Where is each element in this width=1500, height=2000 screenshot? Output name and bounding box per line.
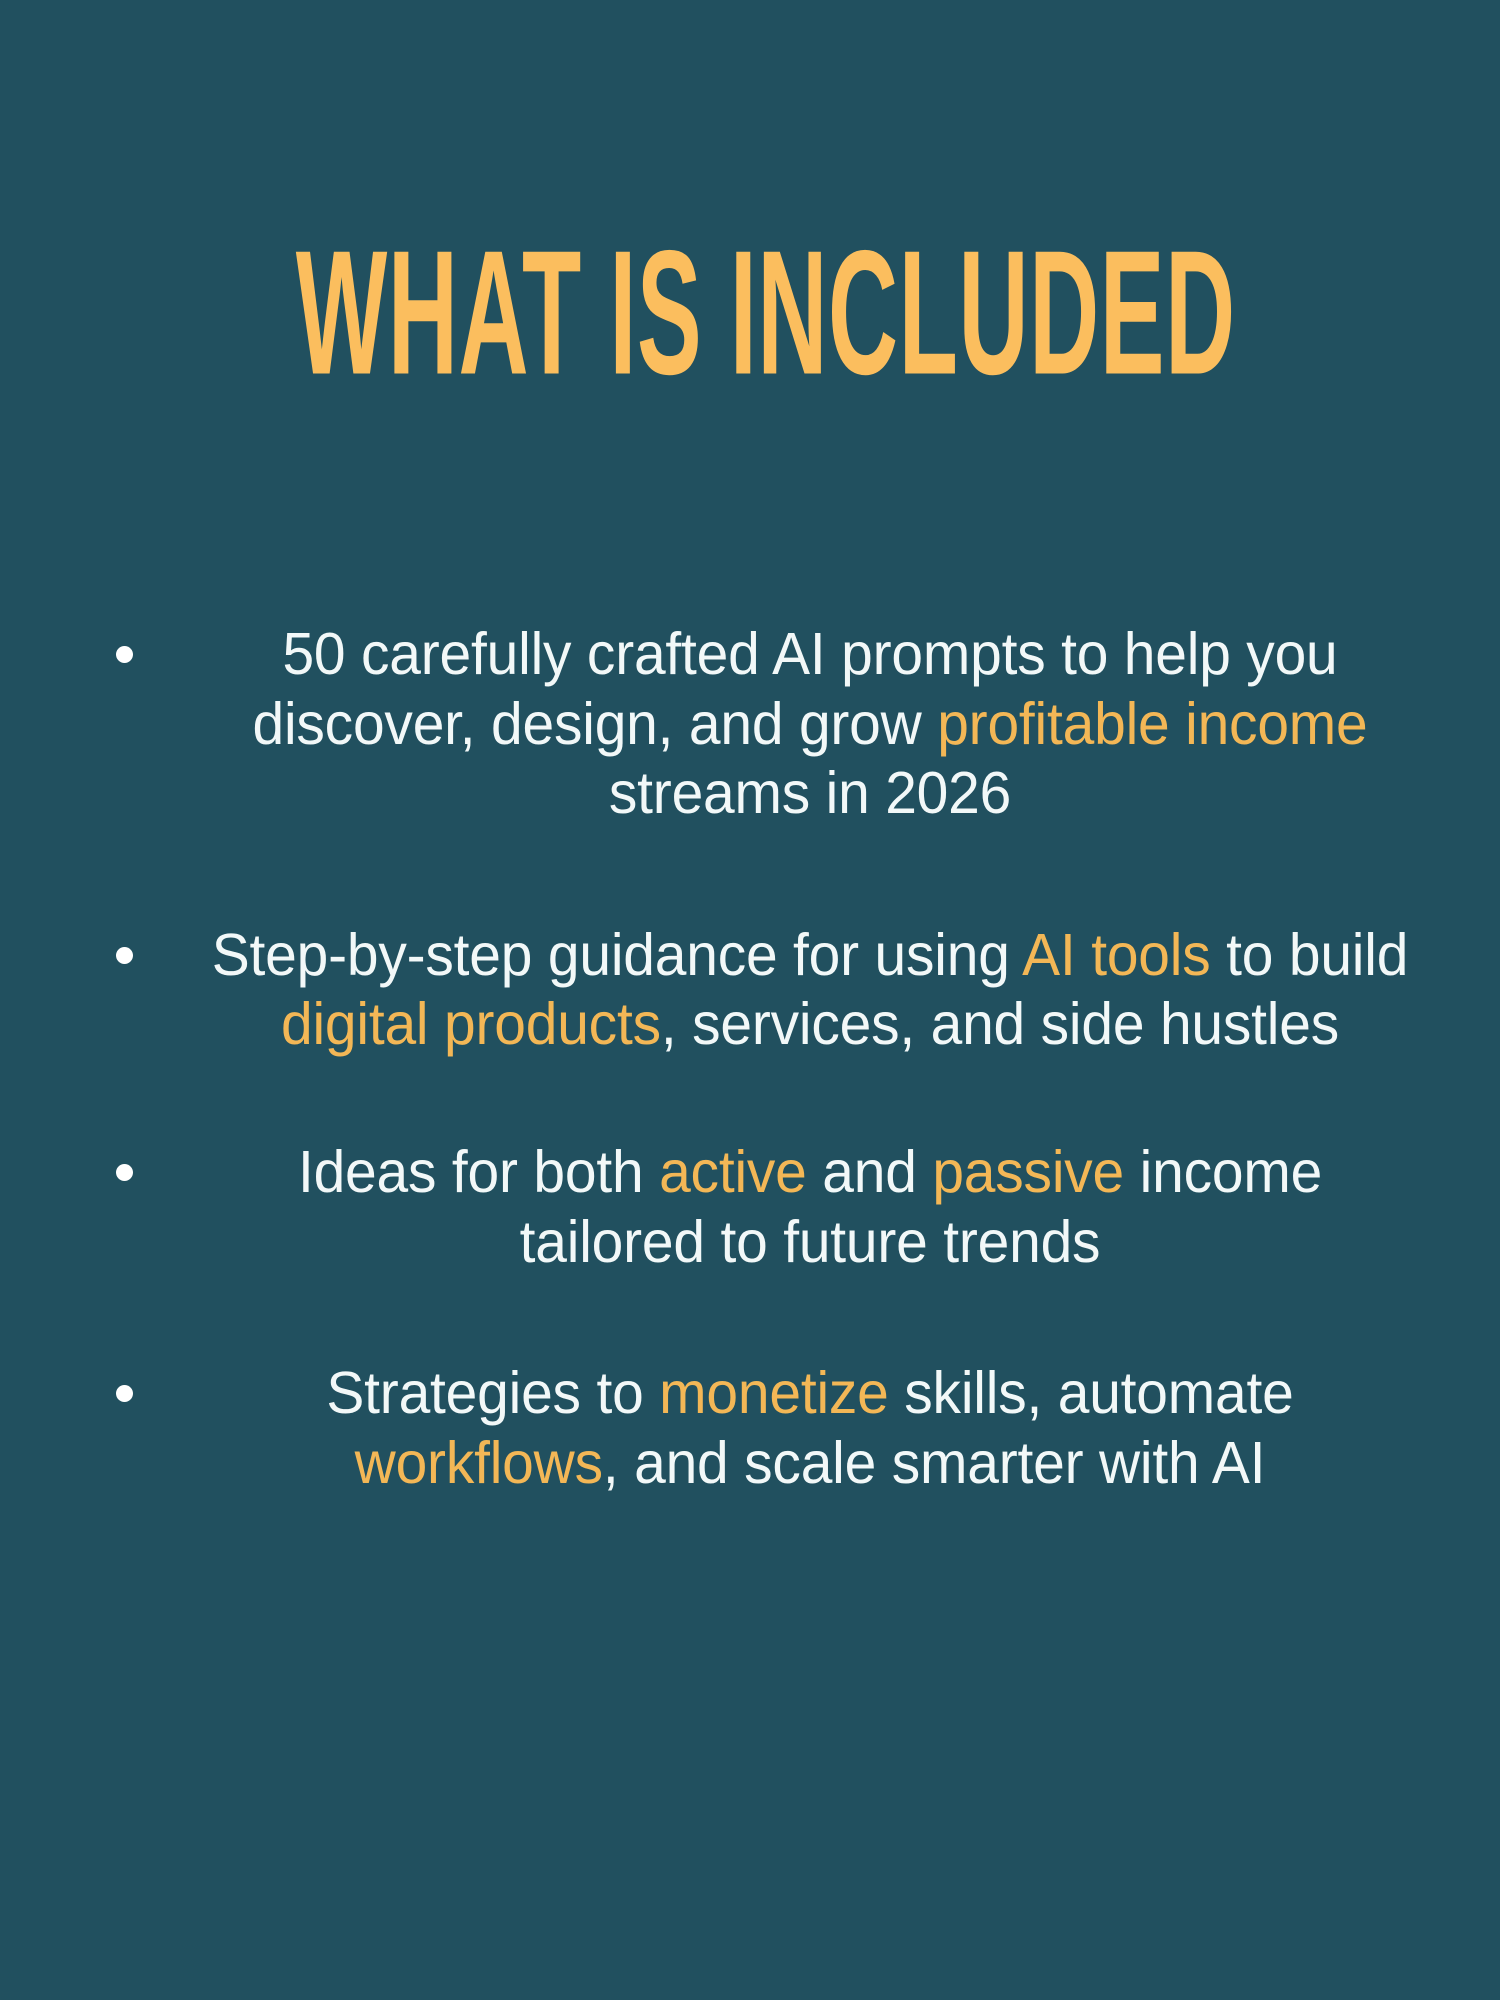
list-item: Step-by-step guidance for using AI tools…: [100, 921, 1440, 1060]
list-item: Ideas for both active and passive income…: [100, 1138, 1440, 1277]
page-title: WHAT IS INCLUDED: [296, 224, 1236, 401]
plain-text: to build: [1211, 922, 1409, 988]
plain-text: streams in 2026: [609, 760, 1011, 826]
highlight-text: workflows: [355, 1430, 603, 1496]
bullet-dot-icon: [116, 1164, 133, 1181]
plain-text: Strategies to: [326, 1360, 659, 1426]
plain-text: , services, and side hustles: [661, 991, 1339, 1057]
plain-text: and: [807, 1139, 933, 1205]
list-item: 50 carefully crafted AI prompts to help …: [100, 620, 1440, 829]
bullet-dot-icon: [116, 1385, 133, 1402]
feature-list: 50 carefully crafted AI prompts to help …: [100, 620, 1440, 1498]
highlight-text: AI tools: [1022, 922, 1210, 988]
bullet-dot-icon: [116, 646, 133, 663]
list-item: Strategies to monetize skills, automate …: [100, 1359, 1440, 1498]
highlight-text: active: [659, 1139, 807, 1205]
list-item-text: Strategies to monetize skills, automate …: [202, 1359, 1418, 1498]
plain-text: skills, automate: [889, 1360, 1294, 1426]
list-item-text: 50 carefully crafted AI prompts to help …: [207, 620, 1413, 829]
list-item-text: Step-by-step guidance for using AI tools…: [202, 921, 1418, 1060]
plain-text: , and scale smarter with AI: [603, 1430, 1265, 1496]
slide-canvas: WHAT IS INCLUDED 50 carefully crafted AI…: [0, 0, 1500, 2000]
plain-text: Step-by-step guidance for using: [212, 922, 1022, 988]
highlight-text: digital products: [281, 991, 661, 1057]
list-item-text: Ideas for both active and passive income…: [241, 1138, 1380, 1277]
bullet-dot-icon: [116, 947, 133, 964]
highlight-text: profitable income: [937, 691, 1367, 757]
page-title-container: WHAT IS INCLUDED: [0, 128, 1500, 498]
highlight-text: monetize: [659, 1360, 888, 1426]
highlight-text: passive: [932, 1139, 1124, 1205]
plain-text: Ideas for both: [298, 1139, 659, 1205]
